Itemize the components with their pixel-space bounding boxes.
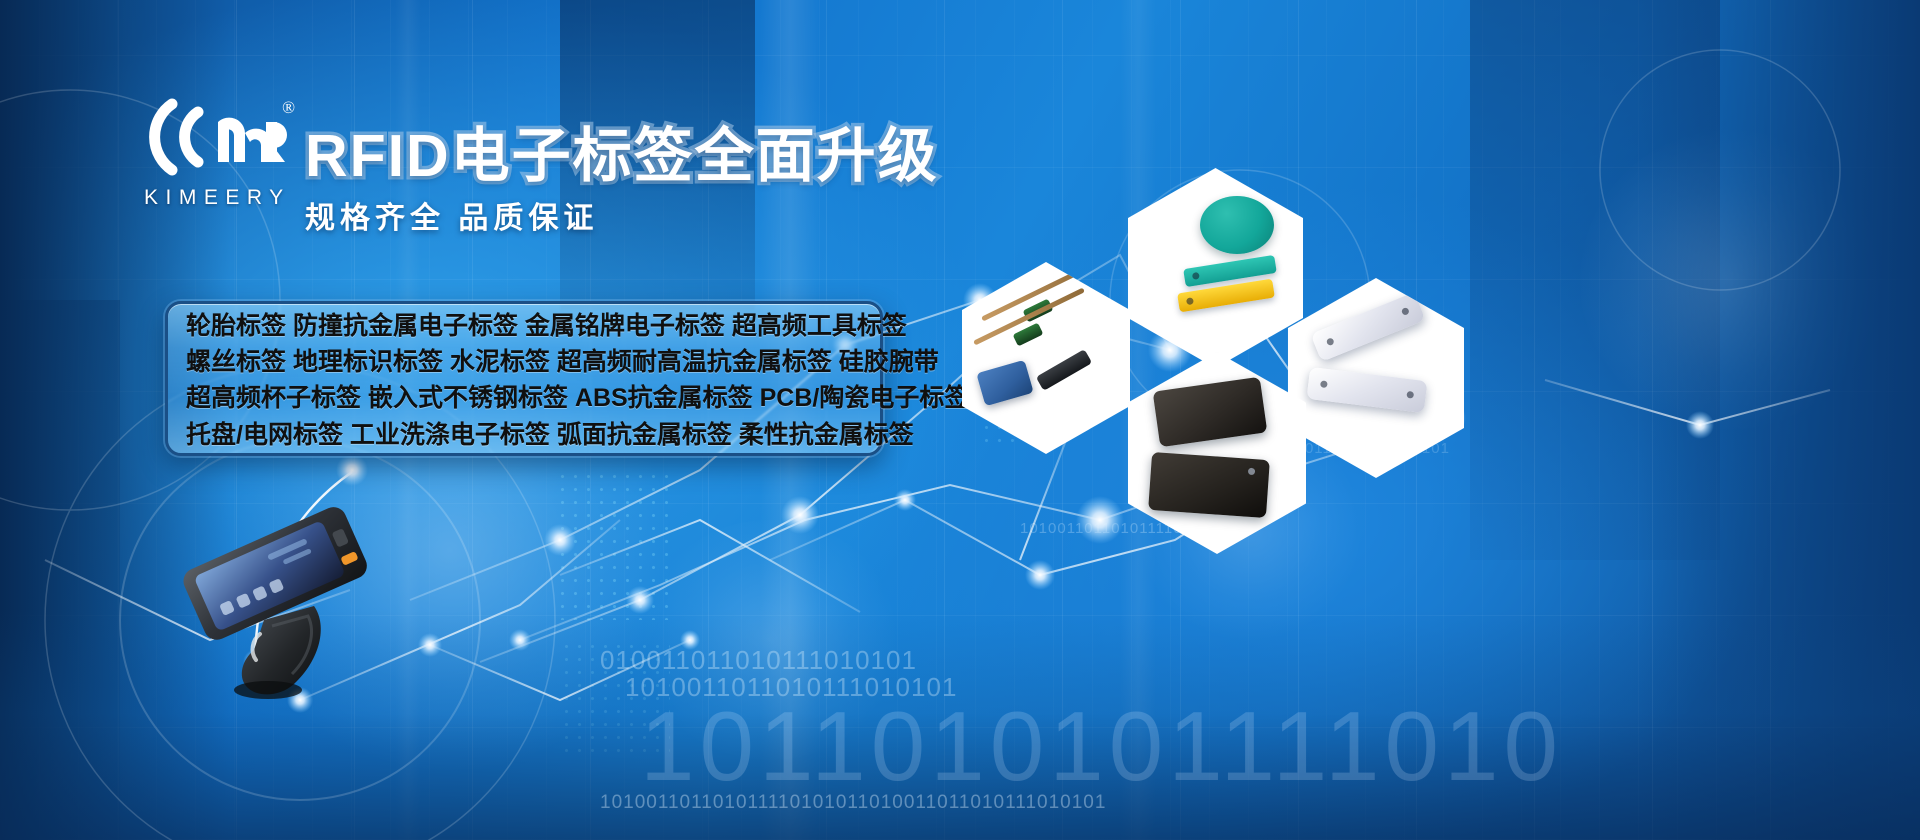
tag-mount-hole [1248, 468, 1255, 475]
product-blue-tag [976, 360, 1033, 406]
product-ceramic-tag-2 [1148, 452, 1270, 518]
tag-mount-hole [1320, 380, 1328, 388]
product-ceramic-tag-1 [1153, 377, 1268, 447]
registered-trademark-icon: ® [282, 98, 295, 118]
product-black-bar-tag [1036, 349, 1092, 391]
tag-list-row: 超高频杯子标签 嵌入式不锈钢标签 ABS抗金属标签 PCB/陶瓷电子标签 [168, 384, 880, 413]
handheld-reader-icon [168, 500, 383, 700]
product-disc-tag [1200, 196, 1274, 254]
product-flexible-tag-2 [1306, 367, 1427, 413]
tag-mount-hole [1192, 272, 1200, 280]
tag-mount-hole [1186, 297, 1194, 305]
rfid-promo-banner: 1011010101111010 010011011010111010101 1… [0, 0, 1920, 840]
page-subtitle: 规格齐全 品质保证 [305, 193, 598, 237]
tag-mount-hole [1326, 337, 1335, 346]
brand-wordmark: KIMEERY [144, 186, 291, 210]
product-wire-chip-2 [1013, 323, 1044, 347]
tag-list-row: 螺丝标签 地理标识标签 水泥标签 超高频耐高温抗金属标签 硅胶腕带 [168, 348, 880, 377]
tag-list-row: 托盘/电网标签 工业洗涤电子标签 弧面抗金属标签 柔性抗金属标签 [168, 421, 880, 450]
tag-list-row: 轮胎标签 防撞抗金属电子标签 金属铭牌电子标签 超高频工具标签 [168, 312, 880, 341]
tag-mount-hole [1401, 307, 1410, 316]
page-title: RFID电子标签全面升级 [305, 108, 939, 193]
kimeery-signal-arc-logo-icon [140, 96, 290, 178]
tag-mount-hole [1406, 391, 1414, 399]
rfid-handheld-reader [168, 500, 383, 700]
product-tag-list: 轮胎标签 防撞抗金属电子标签 金属铭牌电子标签 超高频工具标签 螺丝标签 地理标… [165, 301, 883, 456]
brand-logo: ® KIMEERY [140, 96, 295, 206]
